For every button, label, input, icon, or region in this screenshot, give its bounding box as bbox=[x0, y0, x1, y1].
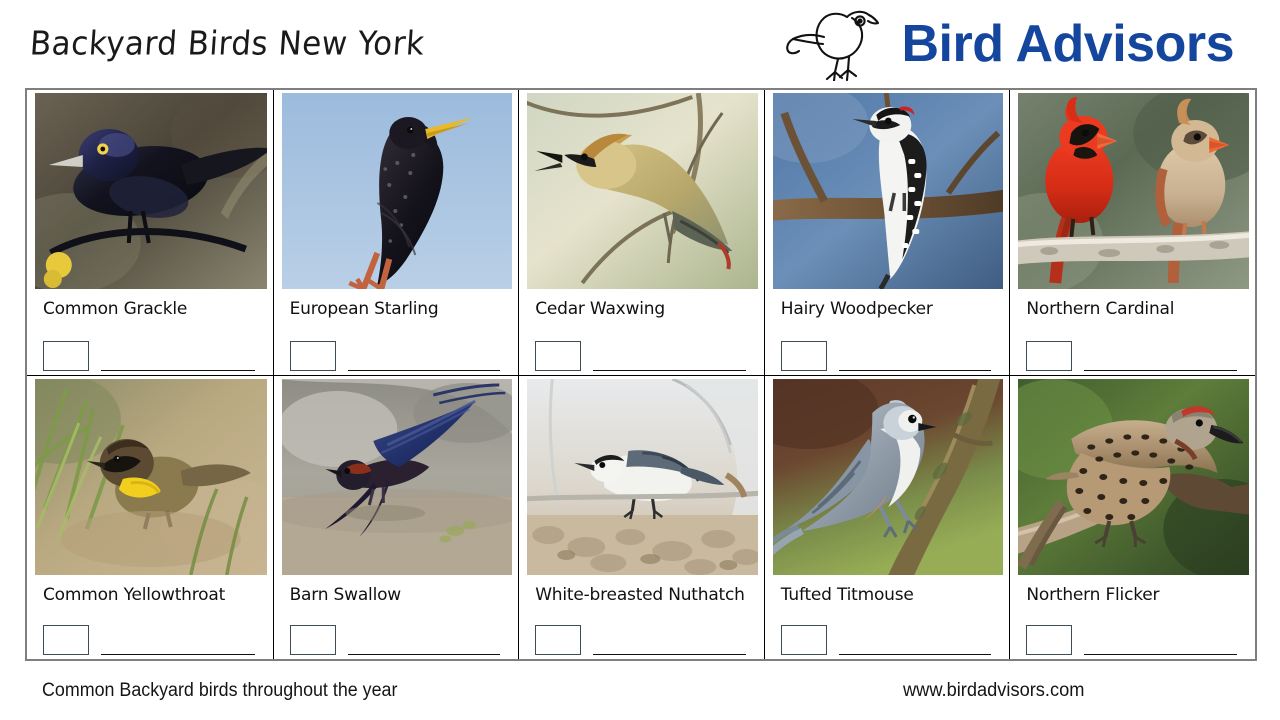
writein-line[interactable] bbox=[348, 351, 501, 371]
card-controls bbox=[781, 328, 1004, 371]
bird-name-label: Northern Flicker bbox=[1026, 586, 1249, 605]
tufted-titmouse-photo bbox=[773, 379, 1004, 575]
seen-checkbox[interactable] bbox=[290, 625, 336, 655]
card-controls bbox=[535, 613, 758, 655]
writein-line[interactable] bbox=[101, 635, 255, 655]
common-yellowthroat-photo bbox=[35, 379, 267, 575]
card-controls bbox=[43, 328, 267, 371]
writein-line[interactable] bbox=[839, 351, 992, 371]
bird-line-art-icon bbox=[783, 7, 887, 81]
page-footer: Common Backyard birds throughout the yea… bbox=[0, 661, 1280, 720]
seen-checkbox[interactable] bbox=[43, 625, 89, 655]
seen-checkbox[interactable] bbox=[535, 625, 581, 655]
footer-website[interactable]: www.birdadvisors.com bbox=[903, 680, 1084, 702]
bird-name-label: European Starling bbox=[290, 300, 513, 319]
grid-row: Common Grackle bbox=[27, 90, 1255, 375]
bird-card[interactable]: Northern Cardinal bbox=[1009, 90, 1255, 375]
seen-checkbox[interactable] bbox=[781, 625, 827, 655]
bird-checklist-grid: Common Grackle bbox=[25, 88, 1257, 661]
card-controls bbox=[535, 328, 758, 371]
bird-name-label: Common Yellowthroat bbox=[43, 586, 267, 605]
northern-cardinal-photo bbox=[1018, 93, 1249, 289]
writein-line[interactable] bbox=[593, 351, 746, 371]
bird-name-label: Barn Swallow bbox=[290, 586, 513, 605]
bird-checklist-page: Backyard Birds New York bbox=[0, 0, 1280, 720]
footer-caption: Common Backyard birds throughout the yea… bbox=[42, 680, 397, 702]
bird-name-label: Common Grackle bbox=[43, 300, 267, 319]
bird-name-label: White-breasted Nuthatch bbox=[535, 586, 758, 605]
writein-line[interactable] bbox=[1084, 635, 1237, 655]
bird-name-label: Tufted Titmouse bbox=[781, 586, 1004, 605]
card-controls bbox=[290, 328, 513, 371]
bird-card[interactable]: Common Yellowthroat bbox=[27, 376, 273, 660]
writein-line[interactable] bbox=[101, 351, 255, 371]
european-starling-photo bbox=[282, 93, 513, 289]
card-controls bbox=[1026, 613, 1249, 655]
grid-row: Common Yellowthroat bbox=[27, 375, 1255, 660]
writein-line[interactable] bbox=[839, 635, 992, 655]
card-controls bbox=[43, 613, 267, 655]
bird-card[interactable]: Hairy Woodpecker bbox=[764, 90, 1010, 375]
bird-card[interactable]: Tufted Titmouse bbox=[764, 376, 1010, 660]
bird-card[interactable]: Northern Flicker bbox=[1009, 376, 1255, 660]
seen-checkbox[interactable] bbox=[43, 341, 89, 371]
bird-card[interactable]: Barn Swallow bbox=[273, 376, 519, 660]
bird-card[interactable]: Common Grackle bbox=[27, 90, 273, 375]
northern-flicker-photo bbox=[1018, 379, 1249, 575]
brand-name: Bird Advisors bbox=[901, 18, 1234, 70]
white-breasted-nuthatch-photo bbox=[527, 379, 758, 575]
bird-name-label: Hairy Woodpecker bbox=[781, 300, 1004, 319]
card-controls bbox=[290, 613, 513, 655]
bird-name-label: Cedar Waxwing bbox=[535, 300, 758, 319]
bird-card[interactable]: White-breasted Nuthatch bbox=[518, 376, 764, 660]
writein-line[interactable] bbox=[1084, 351, 1237, 371]
card-controls bbox=[1026, 328, 1249, 371]
bird-card[interactable]: European Starling bbox=[273, 90, 519, 375]
cedar-waxwing-photo bbox=[527, 93, 758, 289]
bird-name-label: Northern Cardinal bbox=[1026, 300, 1249, 319]
card-controls bbox=[781, 613, 1004, 655]
brand-logo: Bird Advisors bbox=[783, 7, 1234, 81]
seen-checkbox[interactable] bbox=[290, 341, 336, 371]
hairy-woodpecker-photo bbox=[773, 93, 1004, 289]
common-grackle-photo bbox=[35, 93, 267, 289]
barn-swallow-photo bbox=[282, 379, 513, 575]
seen-checkbox[interactable] bbox=[1026, 625, 1072, 655]
bird-card[interactable]: Cedar Waxwing bbox=[518, 90, 764, 375]
writein-line[interactable] bbox=[348, 635, 501, 655]
seen-checkbox[interactable] bbox=[781, 341, 827, 371]
seen-checkbox[interactable] bbox=[1026, 341, 1072, 371]
page-header: Backyard Birds New York bbox=[0, 0, 1280, 88]
seen-checkbox[interactable] bbox=[535, 341, 581, 371]
page-title: Backyard Birds New York bbox=[29, 25, 426, 63]
writein-line[interactable] bbox=[593, 635, 746, 655]
